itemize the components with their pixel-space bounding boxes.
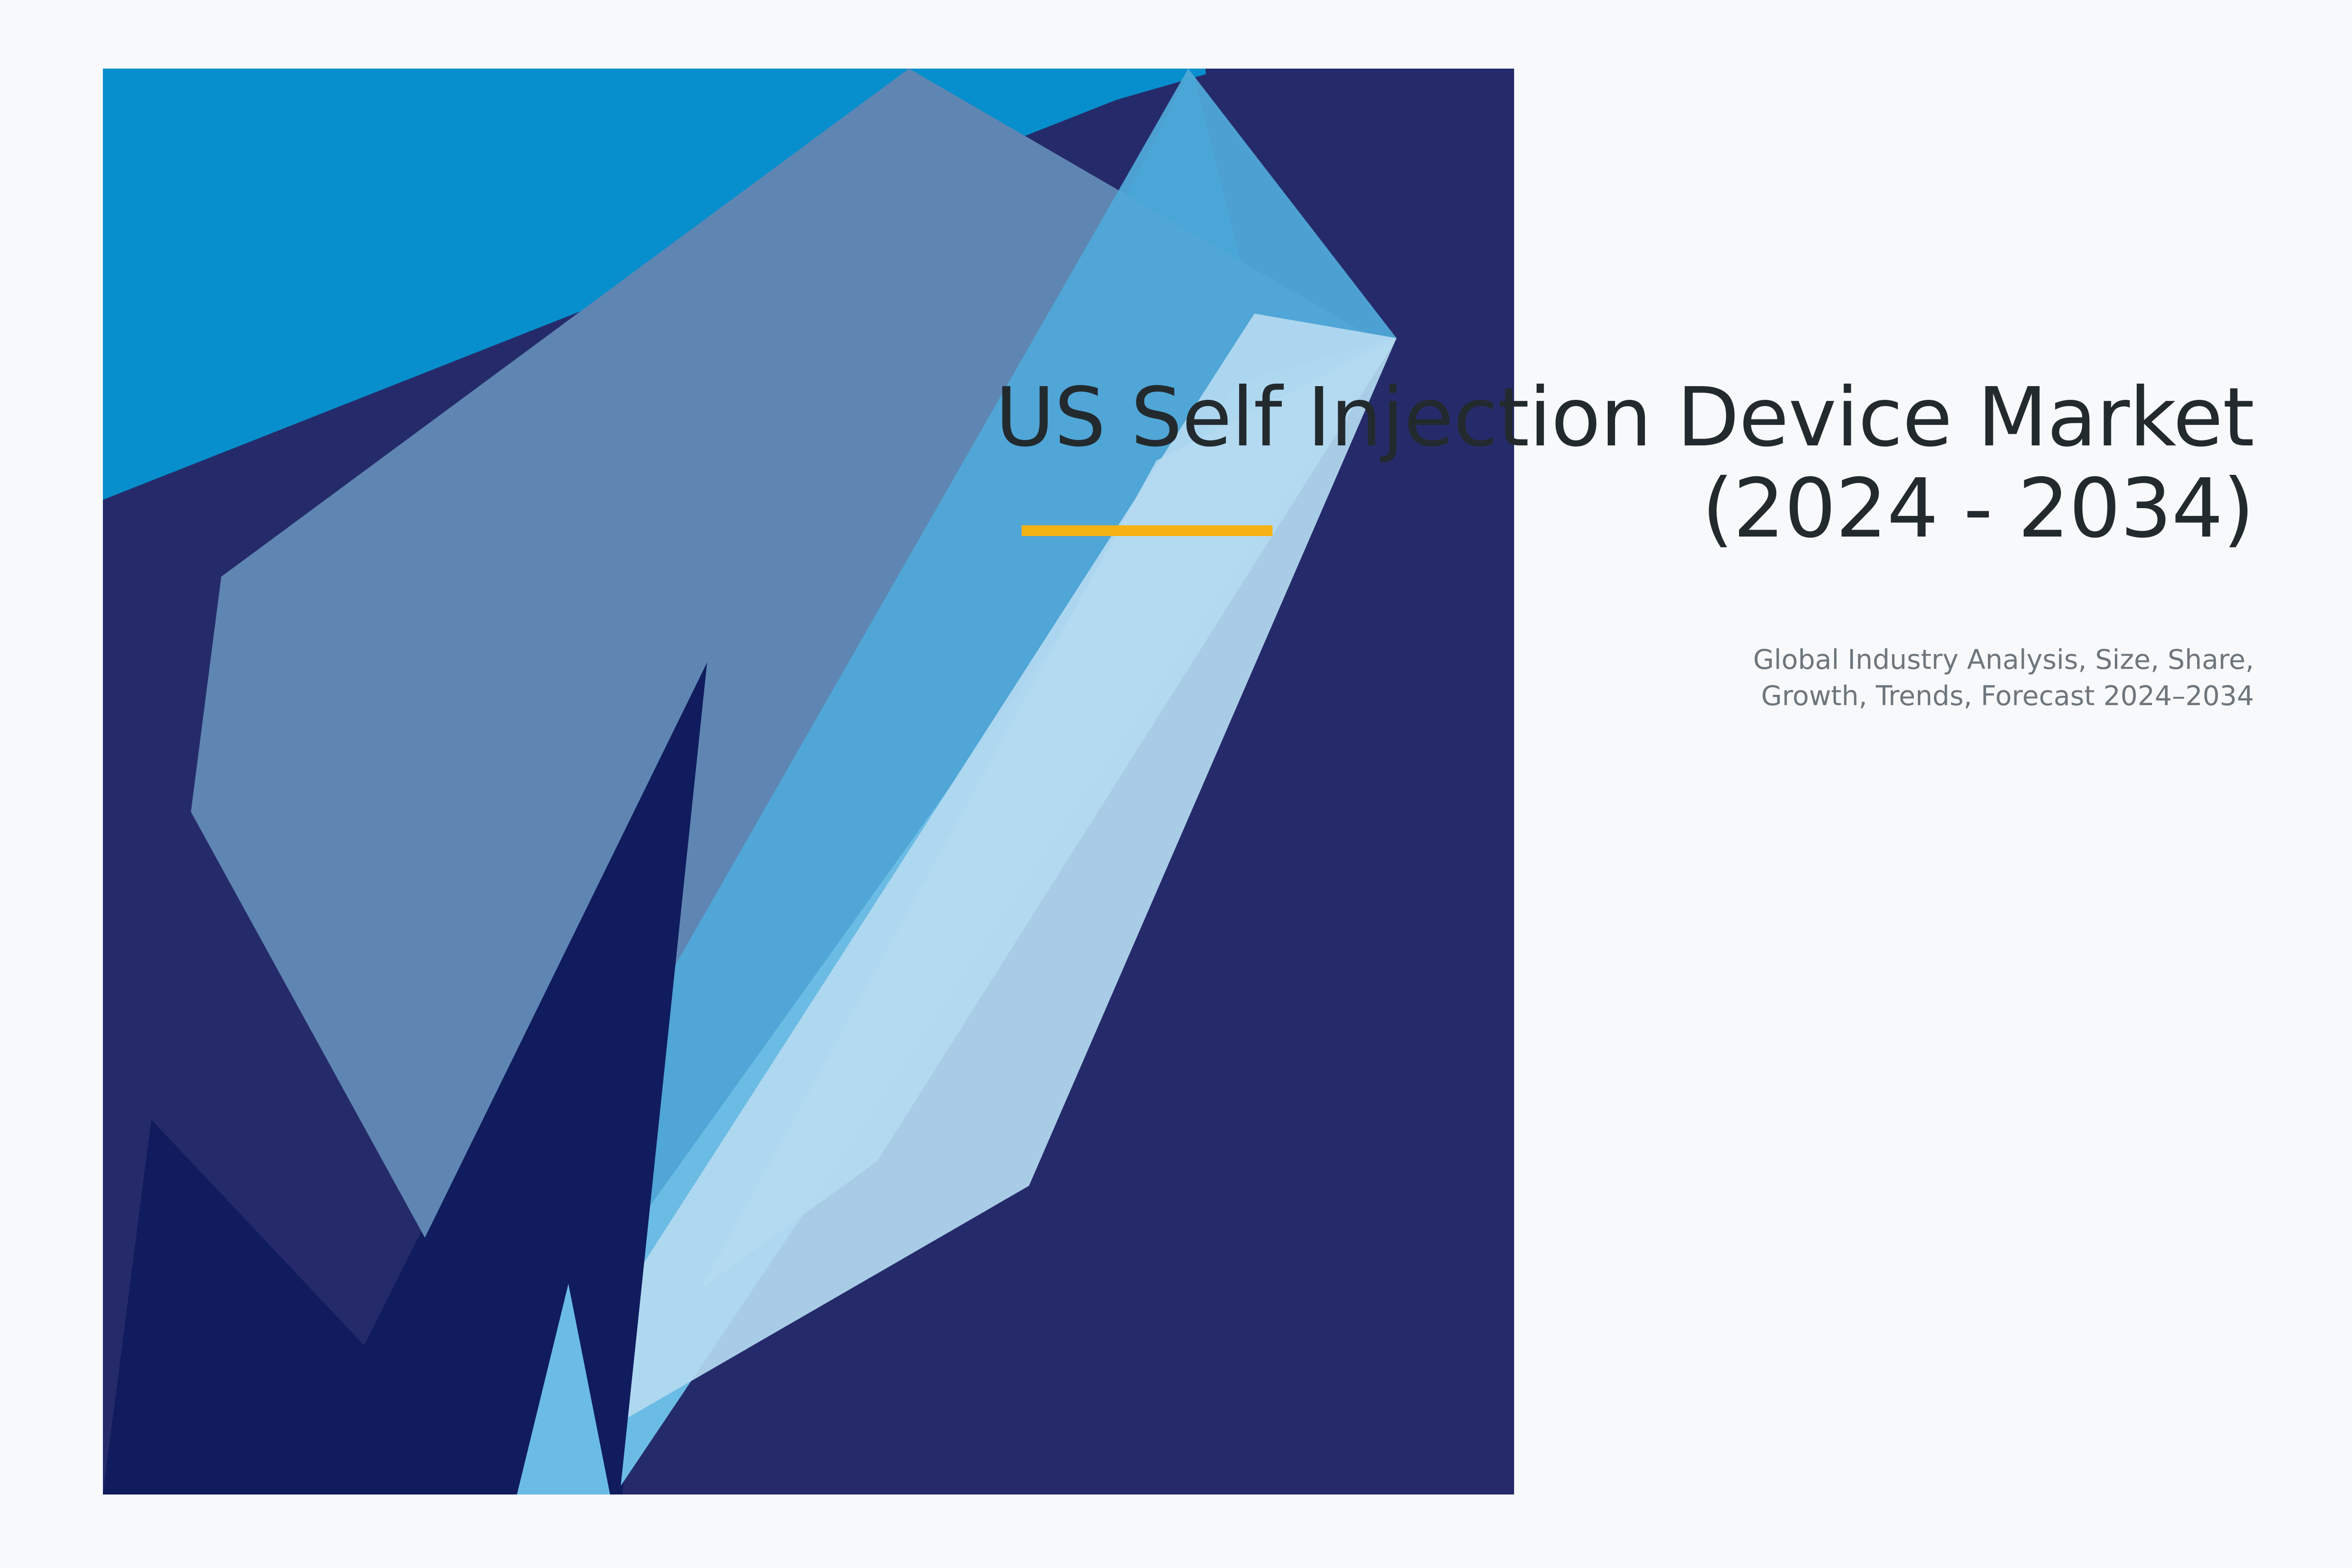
cover-artwork — [0, 0, 2352, 1568]
page-title: US Self Injection Device Market (2024 - … — [980, 372, 2254, 555]
title-block: US Self Injection Device Market (2024 - … — [980, 372, 2254, 555]
page-subtitle: Global Industry Analysis, Size, Share, G… — [980, 642, 2254, 714]
report-cover-page: US Self Injection Device Market (2024 - … — [0, 0, 2352, 1568]
